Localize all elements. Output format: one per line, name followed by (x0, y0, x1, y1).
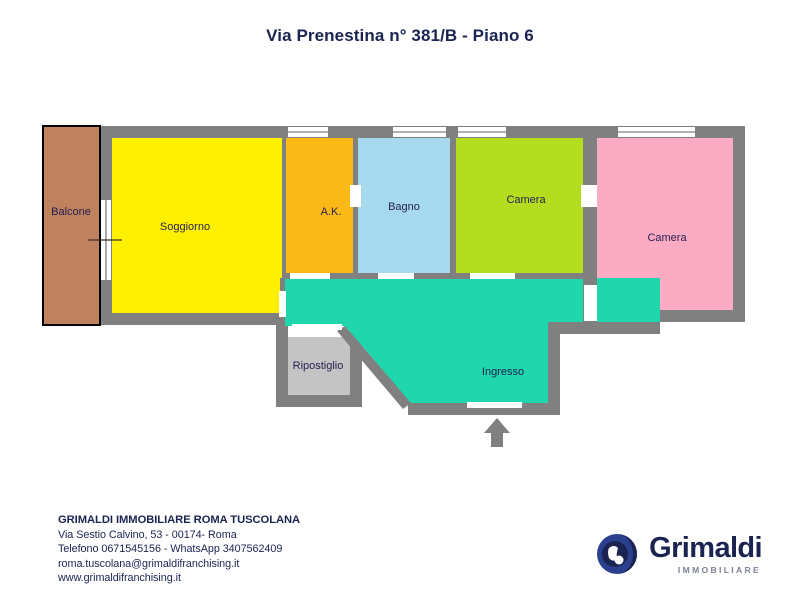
room-label-balcone: Balcone (51, 206, 91, 218)
brand-subtitle: IMMOBILIARE (678, 566, 761, 575)
room-label-ripostiglio: Ripostiglio (293, 360, 344, 372)
room-label-bagno: Bagno (388, 201, 420, 213)
brand-text-block: Grimaldi IMMOBILIARE (649, 534, 762, 575)
room-balcone (43, 126, 100, 325)
grimaldi-mark-icon (594, 531, 640, 577)
wall-right (733, 126, 745, 322)
room-label-ak: A.K. (321, 206, 342, 218)
floor-plan-canvas: Balcone Soggiorno A.K. Bagno Camera Came… (0, 95, 800, 465)
floor-plan-page: Via Prenestina n° 381/B - Piano 6 (0, 0, 800, 600)
door-camera-pink (584, 285, 597, 321)
footer: GRIMALDI IMMOBILIARE ROMA TUSCOLANA Via … (0, 505, 800, 600)
door-ak-ingresso (290, 273, 330, 279)
entrance-arrow-icon (484, 418, 510, 447)
floor-plan-svg: Balcone Soggiorno A.K. Bagno Camera Came… (0, 95, 800, 465)
door-camera-green (581, 185, 597, 207)
room-label-camera-2: Camera (647, 232, 687, 244)
page-title: Via Prenestina n° 381/B - Piano 6 (0, 26, 800, 46)
partition-ak-bagno (353, 138, 358, 278)
door-soggiorno-ingresso (279, 291, 286, 317)
room-ak (285, 138, 353, 273)
wall-bottom-left (100, 313, 282, 325)
wall-ingresso-right-top (548, 322, 660, 334)
door-camera-green-bottom (470, 273, 515, 279)
partition-bagno-camera (450, 138, 456, 278)
company-email: roma.tuscolana@grimaldifranchising.it (58, 557, 300, 572)
company-address: Via Sestio Calvino, 53 - 00174- Roma (58, 528, 300, 543)
partition-soggiorno-ak (282, 138, 286, 278)
company-name: GRIMALDI IMMOBILIARE ROMA TUSCOLANA (58, 513, 300, 528)
brand-logo: Grimaldi IMMOBILIARE (594, 531, 762, 577)
wall-bottom-pink (660, 310, 745, 322)
wall-ingresso-right (548, 322, 560, 414)
door-ak (350, 185, 361, 207)
door-ripostiglio (292, 324, 342, 330)
brand-wordmark: Grimaldi (649, 534, 762, 563)
room-camera-green (456, 138, 583, 278)
company-phone: Telefono 0671545156 - WhatsApp 340756240… (58, 542, 300, 557)
door-bagno (378, 273, 414, 279)
door-entrance (467, 402, 522, 408)
room-label-ingresso: Ingresso (482, 366, 524, 378)
wall-ripostiglio-bottom (276, 395, 362, 407)
wall-ripostiglio-left (276, 325, 288, 407)
room-label-soggiorno: Soggiorno (160, 221, 210, 233)
partition-camera-camera (583, 138, 597, 278)
company-website: www.grimaldifranchising.it (58, 571, 300, 586)
room-label-camera-1: Camera (506, 194, 546, 206)
company-contact-block: GRIMALDI IMMOBILIARE ROMA TUSCOLANA Via … (58, 513, 300, 586)
